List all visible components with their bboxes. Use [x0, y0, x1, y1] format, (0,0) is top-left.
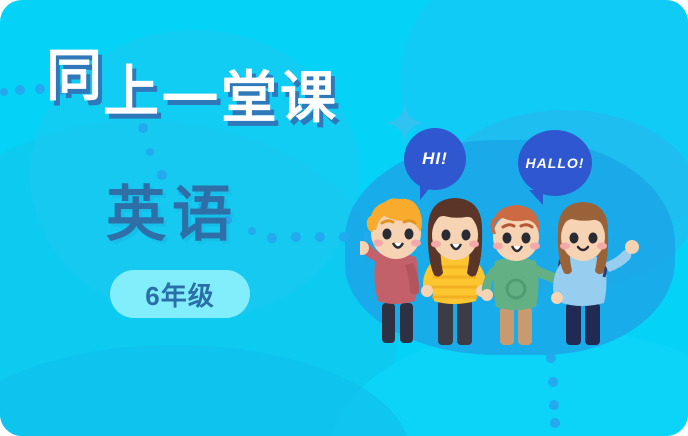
trail-dot — [546, 353, 556, 363]
speech-bubble-hi-text: HI! — [422, 149, 448, 169]
title-char-4: 堂 — [221, 70, 277, 126]
title-char-2: 上 — [103, 64, 159, 120]
title-char-5: 课 — [280, 70, 336, 126]
character-girl-brown-hair — [421, 198, 488, 345]
grade-badge: 6年级 — [110, 270, 250, 318]
speech-bubble-hallo-text: HALLO! — [526, 155, 585, 171]
grade-badge-label: 6年级 — [145, 276, 214, 313]
page-title: 同 上 一 堂 课 — [46, 48, 366, 144]
character-boy-auburn-green-shirt — [481, 205, 566, 345]
character-girl-lightblue-shirt-waving — [551, 202, 639, 345]
children-illustration — [360, 185, 660, 345]
speech-bubble-hi: HI! — [404, 128, 466, 190]
character-boy-blond-waving — [360, 198, 422, 343]
trail-dot — [548, 377, 558, 387]
trail-dot — [550, 418, 560, 428]
subject-title: 英语 — [106, 185, 238, 245]
poster-canvas: 同 上 一 堂 课 英语 6年级 HI! HALLO! — [0, 0, 688, 436]
trail-dot — [549, 400, 559, 410]
title-char-1: 同 — [46, 48, 102, 104]
title-char-3: 一 — [162, 72, 218, 128]
